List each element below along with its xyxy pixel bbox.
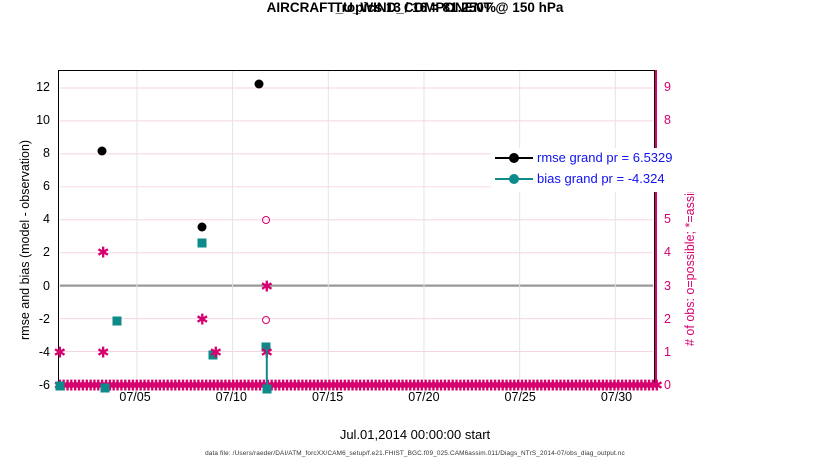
obs-asterisk-baseline: ✱ bbox=[651, 381, 662, 392]
y-tick-right-4: 4 bbox=[664, 245, 671, 259]
rmse-point bbox=[197, 222, 206, 231]
bias-point bbox=[101, 384, 110, 393]
y-tick-left-0: 0 bbox=[0, 279, 50, 293]
y-tick-left--4: -4 bbox=[0, 345, 50, 359]
obs-assimilated-marker: ✱ bbox=[196, 314, 207, 325]
y-tick-left--2: -2 bbox=[0, 312, 50, 326]
y-tick-right-2: 2 bbox=[664, 312, 671, 326]
obs-possible-marker bbox=[262, 216, 270, 224]
legend-label-bias: bias grand pr = -4.324 bbox=[537, 169, 665, 189]
y-tick-left-12: 12 bbox=[0, 80, 50, 94]
y-tick-right-1: 1 bbox=[664, 345, 671, 359]
y-tick-right-3: 3 bbox=[664, 279, 671, 293]
y-tick-right-9: 9 bbox=[664, 80, 671, 94]
plot-area: ✱✱✱✱✱✱✱✱✱✱✱✱✱✱✱✱✱✱✱✱✱✱✱✱✱✱✱✱✱✱✱✱✱✱✱✱✱✱✱✱… bbox=[58, 70, 655, 385]
y-tick-right-8: 8 bbox=[664, 113, 671, 127]
y-tick-right-5: 5 bbox=[664, 212, 671, 226]
legend-item-bias: bias grand pr = -4.324 bbox=[491, 169, 703, 189]
bias-point bbox=[55, 382, 64, 391]
y-tick-left-8: 8 bbox=[0, 146, 50, 160]
x-axis-label: Jul.01,2014 00:00:00 start bbox=[0, 427, 830, 442]
obs-assimilated-marker: ✱ bbox=[209, 347, 220, 358]
legend-item-rmse: rmse grand pr = 6.5329 bbox=[491, 148, 703, 168]
obs-assimilated-marker: ✱ bbox=[97, 347, 108, 358]
footer-data-file: data file: /Users/raeder/DAI/ATM_forcXX/… bbox=[0, 450, 830, 457]
right-axis-spine bbox=[655, 70, 657, 385]
chart-title-line-2: AIRCRAFT_U_WIND_COMPONENT @ 150 hPa bbox=[0, 0, 830, 15]
legend-label-rmse: rmse grand pr = 6.5329 bbox=[537, 148, 673, 168]
bias-point bbox=[197, 239, 206, 248]
chart-legend: rmse grand pr = 6.5329 bias grand pr = -… bbox=[491, 148, 703, 192]
obs-assimilated-marker: ✱ bbox=[54, 347, 65, 358]
legend-marker-bias bbox=[509, 174, 519, 184]
rmse-point bbox=[255, 80, 264, 89]
y-tick-left--6: -6 bbox=[0, 378, 50, 392]
rmse-point bbox=[98, 146, 107, 155]
y-tick-right-0: 0 bbox=[664, 378, 671, 392]
y-tick-left-4: 4 bbox=[0, 212, 50, 226]
y-tick-left-10: 10 bbox=[0, 113, 50, 127]
obs-assimilated-marker: ✱ bbox=[261, 281, 272, 292]
obs-assimilated-marker: ✱ bbox=[97, 248, 108, 259]
y-tick-left-6: 6 bbox=[0, 179, 50, 193]
y-axis-label-left: rmse and bias (model - observation) bbox=[18, 139, 32, 339]
bias-point bbox=[112, 317, 121, 326]
bias-connector-line bbox=[265, 347, 267, 389]
y-tick-left-2: 2 bbox=[0, 245, 50, 259]
legend-marker-rmse bbox=[509, 153, 519, 163]
obs-possible-marker bbox=[262, 316, 270, 324]
grid-lines bbox=[59, 71, 654, 384]
